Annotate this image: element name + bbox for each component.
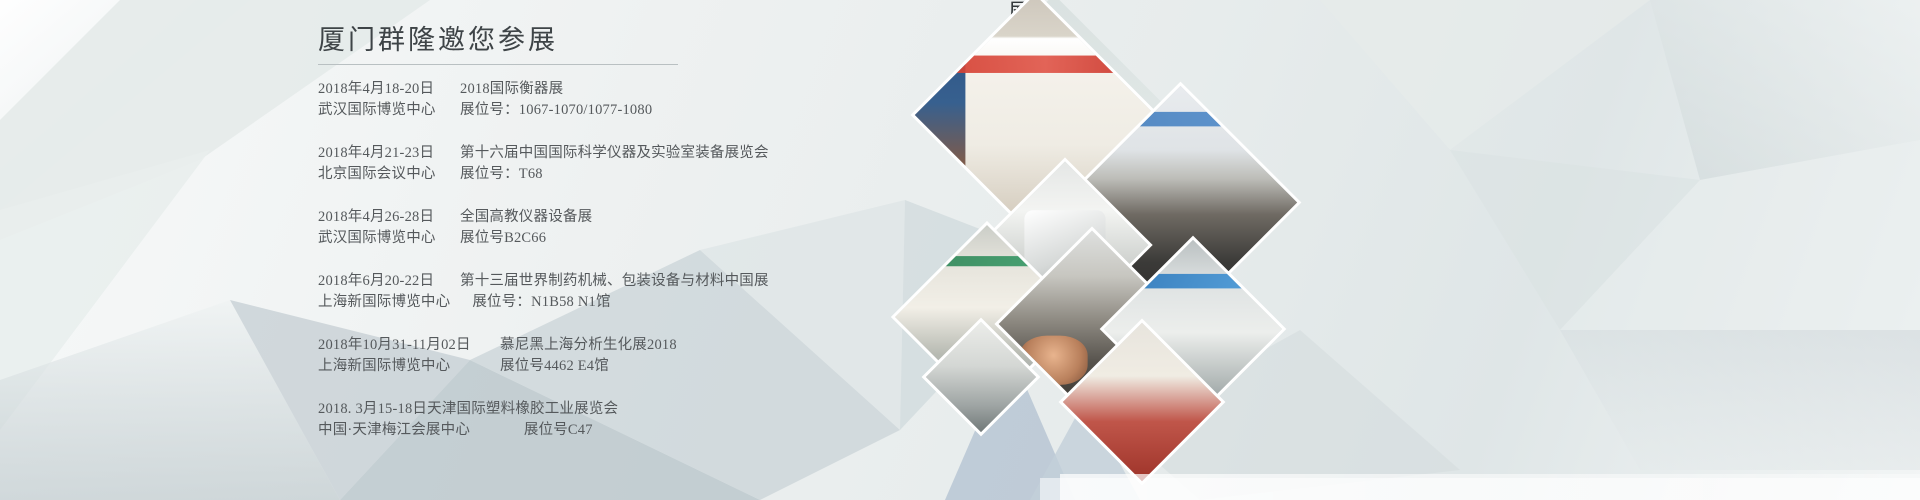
event-venue: 北京国际会议中心: [318, 164, 438, 185]
event-date: 2018年6月20-22日: [318, 271, 438, 292]
event-date: 2018年4月18-20日: [318, 79, 438, 100]
event-name: 第十三届世界制药机械、包装设备与材料中国展: [460, 271, 769, 292]
event-venue: 中国·天津梅江会展中心: [318, 420, 498, 441]
event-venue: 上海新国际博览中心: [318, 356, 478, 377]
photo-collage: 展会现场: [830, 0, 1920, 500]
event-date: 2018年10月31-11月02日: [318, 335, 478, 356]
event-booth: 展位号4462 E4馆: [500, 356, 609, 377]
event-venue: 武汉国际博览中心: [318, 228, 438, 249]
event-booth: 展位号C47: [524, 422, 593, 438]
event-date: 2018年4月26-28日: [318, 207, 438, 228]
exhibition-banner: 厦门群隆邀您参展 2018年4月18-20日 2018国际衡器展 武汉国际博览中…: [0, 0, 1920, 500]
bottom-light-strip: [1060, 474, 1920, 500]
title-divider: [318, 64, 678, 65]
event-date: 2018年4月21-23日: [318, 143, 438, 164]
event-name: 2018国际衡器展: [460, 79, 563, 100]
event-name: 全国高教仪器设备展: [460, 207, 592, 228]
event-booth: 展位号：1067-1070/1077-1080: [460, 100, 652, 121]
event-venue: 武汉国际博览中心: [318, 100, 438, 121]
event-booth: 展位号：N1B58 N1馆: [472, 292, 610, 313]
event-booth: 展位号：T68: [460, 164, 543, 185]
event-name: 第十六届中国国际科学仪器及实验室装备展览会: [460, 143, 769, 164]
event-name: 慕尼黑上海分析生化展2018: [500, 335, 677, 356]
event-booth: 展位号B2C66: [460, 228, 546, 249]
event-date: 2018. 3月15-18日天津国际塑料橡胶工业展览会: [318, 399, 618, 420]
event-venue: 上海新国际博览中心: [318, 292, 450, 313]
